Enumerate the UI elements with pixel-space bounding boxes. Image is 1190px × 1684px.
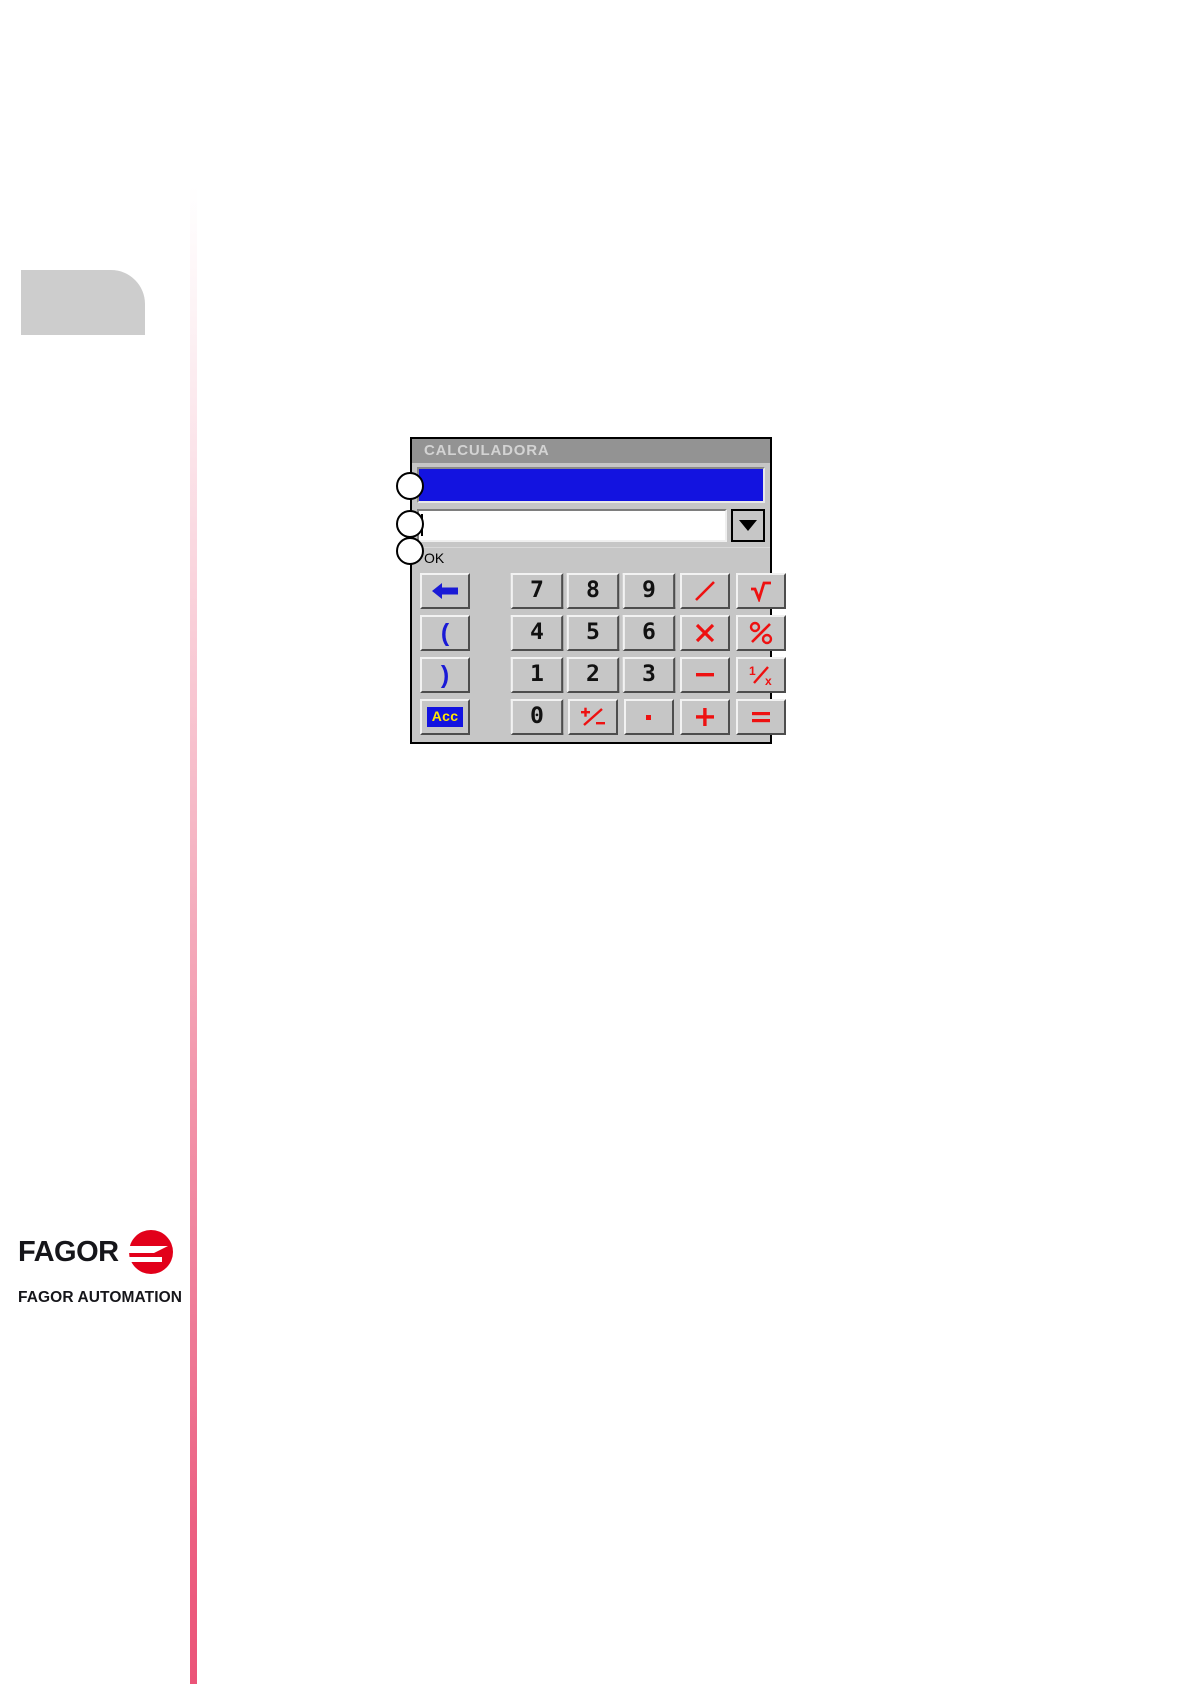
- key-percent[interactable]: [736, 615, 786, 651]
- key-digit-9[interactable]: 9: [623, 573, 676, 609]
- keypad-area: ( ) Acc 7 8 9: [412, 573, 770, 735]
- key-decimal-point[interactable]: [624, 699, 674, 735]
- square-root-icon: [749, 580, 773, 602]
- key-digit-7[interactable]: 7: [511, 573, 564, 609]
- entry-row: [417, 509, 765, 542]
- divide-slash-icon: [692, 579, 718, 603]
- multiply-icon: [693, 622, 717, 644]
- key-digit-4[interactable]: 4: [511, 615, 564, 651]
- key-reciprocal[interactable]: 1 x: [736, 657, 786, 693]
- logo-wordmark: FAGOR: [18, 1238, 119, 1267]
- key-digit-2[interactable]: 2: [567, 657, 620, 693]
- dialog-title: CALCULADORA: [424, 442, 549, 459]
- history-dropdown-button[interactable]: [731, 509, 765, 542]
- key-sign-toggle[interactable]: [568, 699, 618, 735]
- key-open-paren[interactable]: (: [420, 615, 470, 651]
- key-digit-1[interactable]: 1: [511, 657, 564, 693]
- keypad-left-column: ( ) Acc: [420, 573, 470, 735]
- key-digit-8[interactable]: 8: [567, 573, 620, 609]
- keypad-row: 7 8 9: [512, 573, 786, 609]
- key-digit-6[interactable]: 6: [623, 615, 676, 651]
- plus-icon: [693, 705, 717, 729]
- key-digit-5[interactable]: 5: [567, 615, 620, 651]
- key-equals[interactable]: [736, 699, 786, 735]
- softkey-bar: OK: [412, 547, 770, 567]
- plus-minus-toggle-icon: [578, 705, 608, 729]
- expression-input[interactable]: [417, 509, 727, 542]
- keypad-row: 0: [512, 699, 786, 735]
- equals-icon: [748, 707, 774, 727]
- page-accent-rule: [190, 185, 197, 1684]
- calculator-dialog: CALCULADORA OK ( ) Acc 7: [410, 437, 772, 744]
- keypad-right-grid: 7 8 9 4 5 6: [512, 573, 786, 735]
- chevron-down-icon: [739, 520, 757, 531]
- decimal-dot-icon: [641, 709, 657, 725]
- key-acc[interactable]: Acc: [420, 699, 470, 735]
- callout-marker-3: [396, 537, 424, 565]
- keypad-row: 4 5 6: [512, 615, 786, 651]
- key-add[interactable]: [680, 699, 730, 735]
- percent-icon: [748, 621, 774, 645]
- key-backspace[interactable]: [420, 573, 470, 609]
- key-divide[interactable]: [680, 573, 730, 609]
- logo-tagline: FAGOR AUTOMATION: [18, 1289, 178, 1307]
- reciprocal-icon: 1 x: [746, 663, 776, 687]
- key-multiply[interactable]: [680, 615, 730, 651]
- key-digit-3[interactable]: 3: [623, 657, 676, 693]
- key-subtract[interactable]: [680, 657, 730, 693]
- fagor-mark-icon: [128, 1229, 174, 1275]
- minus-icon: [692, 665, 718, 685]
- keypad-row: 1 2 3 1 x: [512, 657, 786, 693]
- svg-text:1: 1: [749, 664, 756, 678]
- dialog-title-bar: CALCULADORA: [412, 439, 770, 463]
- callout-marker-1: [396, 472, 424, 500]
- acc-label: Acc: [427, 707, 464, 726]
- svg-text:x: x: [765, 674, 772, 687]
- fagor-logo: FAGOR FAGOR AUTOMATION: [18, 1228, 178, 1307]
- result-display: [417, 467, 765, 503]
- logo-row: FAGOR: [18, 1228, 178, 1276]
- softkey-ok[interactable]: OK: [424, 550, 444, 566]
- chapter-tab-marker: [21, 270, 145, 335]
- key-close-paren[interactable]: ): [420, 657, 470, 693]
- key-digit-0[interactable]: 0: [511, 699, 564, 735]
- callout-marker-2: [396, 510, 424, 538]
- arrow-left-icon: [430, 582, 460, 600]
- key-square-root[interactable]: [736, 573, 786, 609]
